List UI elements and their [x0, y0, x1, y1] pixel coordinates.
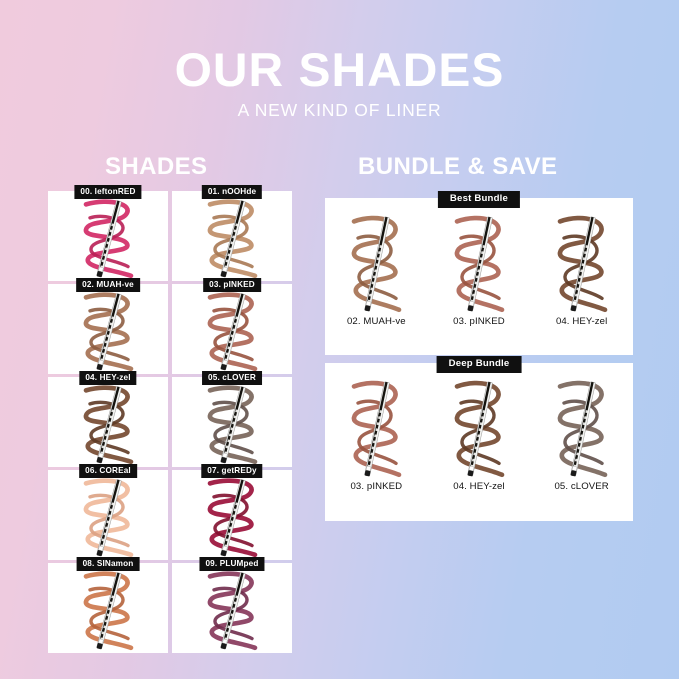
shade-card[interactable]: 02. MUAH-ve — [48, 284, 168, 374]
shade-swatch — [48, 470, 168, 560]
shade-swatch-artwork — [196, 382, 268, 466]
bundle-swatch — [534, 210, 629, 315]
shade-swatch-artwork — [196, 475, 268, 559]
shade-label: 09. PLUMped — [199, 557, 264, 571]
shade-swatch — [172, 563, 292, 653]
shade-swatch-artwork — [196, 568, 268, 652]
shade-card[interactable]: 09. PLUMped — [172, 563, 292, 653]
bundle-swatch — [431, 210, 526, 315]
shade-label: 03. pINKED — [203, 278, 261, 292]
shades-section-heading: SHADES — [105, 155, 207, 179]
shade-swatch — [172, 284, 292, 374]
shade-swatch — [172, 191, 292, 281]
shade-swatch-artwork — [433, 376, 525, 480]
shade-swatch-artwork — [536, 376, 628, 480]
bundle-swatch — [329, 375, 424, 480]
shades-grid: 00. leftonRED01. nOOHde02. MUAH-ve03. pI… — [48, 191, 292, 653]
shade-swatch-artwork — [72, 382, 144, 466]
bundle-item-label: 02. MUAH-ve — [347, 317, 406, 327]
bundle-item-label: 05. cLOVER — [554, 482, 608, 492]
poster-canvas: OUR SHADES A NEW KIND OF LINER SHADES BU… — [0, 0, 679, 679]
shade-swatch-artwork — [72, 475, 144, 559]
bundle-item-label: 03. pINKED — [350, 482, 402, 492]
shade-swatch — [172, 470, 292, 560]
shade-label: 02. MUAH-ve — [76, 278, 140, 292]
shade-label: 08. SINamon — [77, 557, 140, 571]
shade-swatch-artwork — [330, 211, 422, 315]
bundle-items: 02. MUAH-ve03. pINKED04. HEY-zel — [325, 210, 633, 351]
shade-swatch — [48, 191, 168, 281]
shade-swatch-artwork — [72, 568, 144, 652]
bundle-item[interactable]: 05. cLOVER — [534, 375, 629, 517]
bundle-swatch — [534, 375, 629, 480]
bundle-section-heading: BUNDLE & SAVE — [358, 155, 557, 179]
shade-card[interactable]: 05. cLOVER — [172, 377, 292, 467]
bundle-swatch — [431, 375, 526, 480]
bundle-item-label: 04. HEY-zel — [556, 317, 607, 327]
bundle-tag: Best Bundle — [438, 191, 520, 208]
shade-label: 05. cLOVER — [202, 371, 262, 385]
shade-swatch — [172, 377, 292, 467]
bundle-item-label: 04. HEY-zel — [453, 482, 504, 492]
shade-label: 06. COREal — [79, 464, 137, 478]
shade-card[interactable]: 04. HEY-zel — [48, 377, 168, 467]
shade-swatch-artwork — [196, 196, 268, 280]
bundle-panel-best[interactable]: Best Bundle02. MUAH-ve03. pINKED04. HEY-… — [325, 198, 633, 355]
shade-card[interactable]: 00. leftonRED — [48, 191, 168, 281]
shade-swatch — [48, 377, 168, 467]
shade-card[interactable]: 08. SINamon — [48, 563, 168, 653]
bundle-item[interactable]: 04. HEY-zel — [431, 375, 526, 517]
shade-card[interactable]: 03. pINKED — [172, 284, 292, 374]
shade-swatch — [48, 284, 168, 374]
shade-swatch — [48, 563, 168, 653]
bundle-tag: Deep Bundle — [437, 356, 522, 373]
bundle-panel-deep[interactable]: Deep Bundle03. pINKED04. HEY-zel05. cLOV… — [325, 363, 633, 521]
shade-swatch-artwork — [72, 196, 144, 280]
shade-label: 04. HEY-zel — [79, 371, 136, 385]
bundle-item[interactable]: 03. pINKED — [431, 210, 526, 351]
shade-label: 07. getREDy — [201, 464, 262, 478]
shade-label: 00. leftonRED — [74, 185, 141, 199]
poster-header: OUR SHADES A NEW KIND OF LINER — [0, 46, 679, 120]
bundle-items: 03. pINKED04. HEY-zel05. cLOVER — [325, 375, 633, 517]
shade-swatch-artwork — [330, 376, 422, 480]
bundle-item[interactable]: 02. MUAH-ve — [329, 210, 424, 351]
page-title: OUR SHADES — [0, 46, 679, 93]
bundle-item[interactable]: 04. HEY-zel — [534, 210, 629, 351]
bundle-item-label: 03. pINKED — [453, 317, 505, 327]
shade-label: 01. nOOHde — [202, 185, 262, 199]
shade-card[interactable]: 06. COREal — [48, 470, 168, 560]
bundle-swatch — [329, 210, 424, 315]
bundle-item[interactable]: 03. pINKED — [329, 375, 424, 517]
shade-card[interactable]: 01. nOOHde — [172, 191, 292, 281]
shade-card[interactable]: 07. getREDy — [172, 470, 292, 560]
shade-swatch-artwork — [72, 289, 144, 373]
page-subtitle: A NEW KIND OF LINER — [0, 102, 679, 120]
shade-swatch-artwork — [536, 211, 628, 315]
shade-swatch-artwork — [196, 289, 268, 373]
shade-swatch-artwork — [433, 211, 525, 315]
